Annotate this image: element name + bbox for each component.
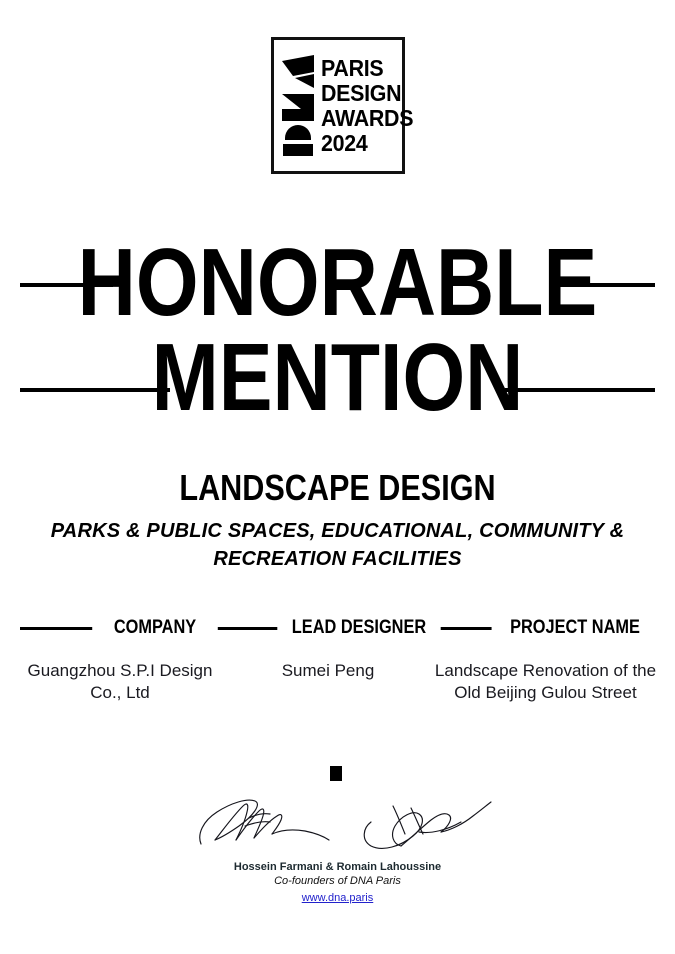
- decorative-rule-left-lower: [20, 388, 170, 392]
- credits-header-lead-designer: LEAD DESIGNER: [277, 615, 440, 641]
- award-subcategory-line-1: PARKS & PUBLIC SPACES, EDUCATIONAL, COMM…: [8, 517, 667, 545]
- footer-signers: Hossein Farmani & Romain Lahoussine: [0, 860, 675, 874]
- award-title: HONORABLE MENTION: [0, 235, 675, 425]
- black-square-seal-icon: [330, 766, 342, 781]
- award-title-line-2: MENTION: [54, 330, 621, 425]
- award-subcategory-line-2: RECREATION FACILITIES: [8, 545, 667, 573]
- credits-value-lead-designer: Sumei Peng: [230, 660, 426, 704]
- website-link[interactable]: www.dna.paris: [302, 891, 374, 905]
- logo-line-awards: AWARDS: [321, 106, 413, 131]
- credits-value-company: Guangzhou S.P.I Design Co., Ltd: [10, 660, 230, 704]
- dna-monogram-icon: [281, 54, 315, 158]
- logo-line-paris: PARIS: [321, 56, 413, 81]
- decorative-rule-right-upper: [557, 283, 655, 287]
- credits-value-row: Guangzhou S.P.I Design Co., Ltd Sumei Pe…: [10, 660, 665, 704]
- signature-block: [185, 788, 495, 856]
- credits-value-project-name: Landscape Renovation of the Old Beijing …: [426, 660, 665, 704]
- award-title-line-1: HONORABLE: [54, 235, 621, 330]
- award-title-row-2: MENTION: [0, 330, 675, 425]
- award-category: LANDSCAPE DESIGN: [51, 468, 625, 508]
- credits-header-company: COMPANY: [92, 615, 218, 641]
- paris-design-awards-logo: PARIS DESIGN AWARDS 2024: [271, 37, 405, 174]
- award-subcategory: PARKS & PUBLIC SPACES, EDUCATIONAL, COMM…: [8, 517, 667, 573]
- credits-header-row: COMPANY LEAD DESIGNER PROJECT NAME: [20, 615, 655, 641]
- logo-line-year: 2024: [321, 131, 413, 156]
- decorative-rule-left-upper: [20, 283, 113, 287]
- award-certificate: PARIS DESIGN AWARDS 2024 HONORABLE MENTI…: [0, 0, 675, 954]
- footer-role: Co-founders of DNA Paris: [0, 874, 675, 888]
- footer-website-wrapper: www.dna.paris: [0, 888, 675, 906]
- footer-text: Hossein Farmani & Romain Lahoussine Co-f…: [0, 860, 675, 906]
- signature-romain-lahoussine-icon: [357, 788, 493, 854]
- decorative-rule-right-lower: [505, 388, 655, 392]
- logo-wordmark: PARIS DESIGN AWARDS 2024: [315, 56, 420, 156]
- logo-inner: PARIS DESIGN AWARDS 2024: [274, 40, 402, 171]
- signature-hossein-farmani-icon: [193, 788, 333, 854]
- logo-line-design: DESIGN: [321, 81, 413, 106]
- credits-header-project-name: PROJECT NAME: [492, 615, 659, 641]
